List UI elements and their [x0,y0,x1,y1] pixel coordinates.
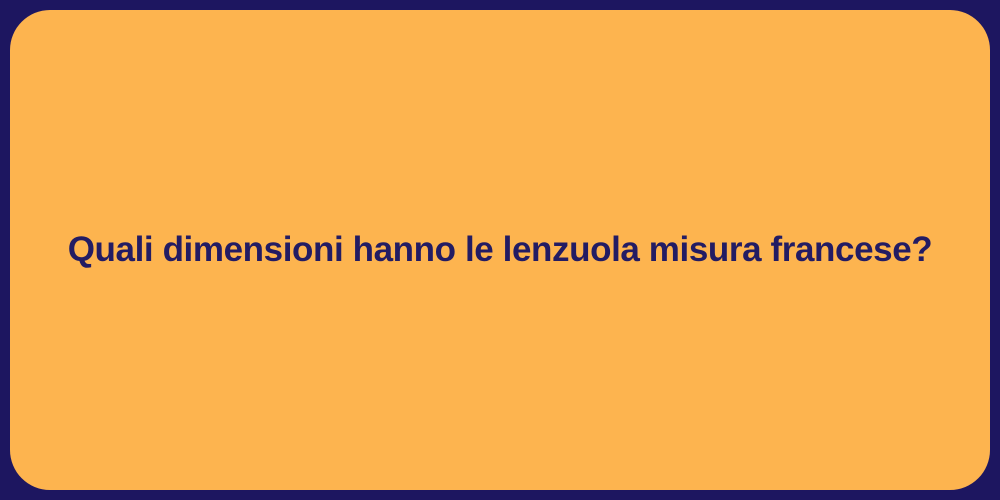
question-headline: Quali dimensioni hanno le lenzuola misur… [28,228,973,272]
question-card: Quali dimensioni hanno le lenzuola misur… [10,10,990,490]
page-background: Quali dimensioni hanno le lenzuola misur… [0,0,1000,500]
